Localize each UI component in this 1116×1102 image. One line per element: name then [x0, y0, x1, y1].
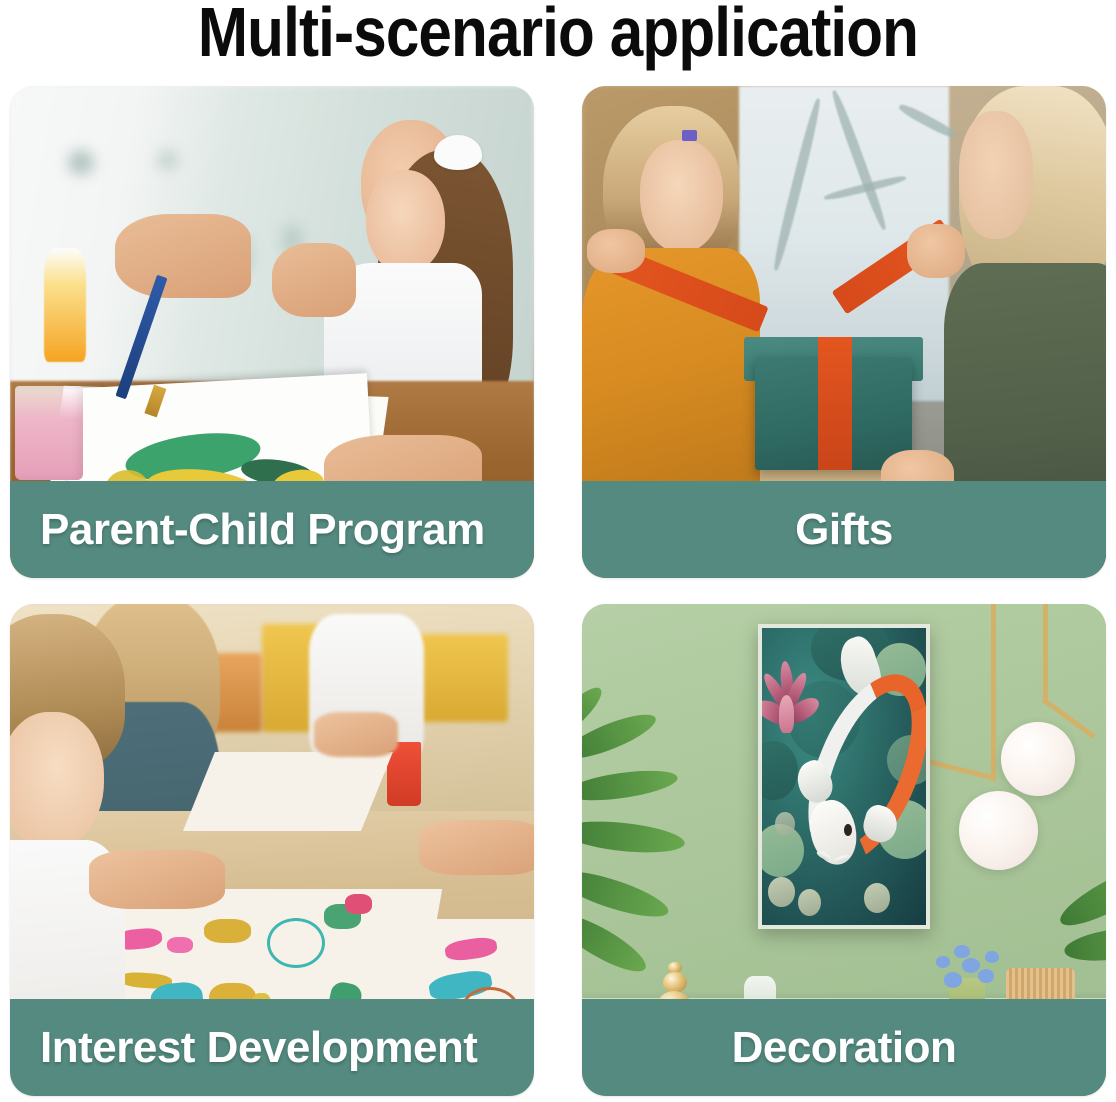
paint-stroke: [345, 894, 371, 914]
card-caption-bar: Parent-Child Program: [10, 481, 534, 578]
blue-flower: [978, 969, 995, 983]
girl-face: [640, 140, 724, 253]
child-arm-right: [419, 820, 534, 874]
palm-frond: [582, 816, 687, 857]
ribbon-vertical: [818, 337, 852, 470]
paint-stroke: [267, 918, 325, 968]
mother-arm: [115, 214, 251, 298]
blue-flower: [944, 972, 963, 988]
palm-frond: [582, 706, 660, 766]
card-caption-text: Interest Development: [40, 1023, 477, 1073]
lotus-flower: [765, 666, 818, 749]
koi-eye: [844, 824, 852, 836]
child-arm: [89, 850, 225, 909]
blue-flower: [962, 958, 980, 973]
palm-frond: [582, 862, 672, 925]
globe-light: [959, 791, 1038, 870]
lotus-petal: [779, 695, 795, 733]
poster: Multi-scenario application: [0, 0, 1116, 1102]
paper-sheet: [183, 752, 393, 831]
woman-hand-upper: [907, 224, 965, 278]
girl-face: [366, 170, 445, 273]
scenario-card-gifts[interactable]: Gifts: [582, 86, 1106, 578]
card-caption-bar: Decoration: [582, 999, 1106, 1096]
woman-face: [959, 111, 1032, 239]
blue-flower: [954, 945, 970, 958]
pendant-rod: [991, 604, 996, 781]
card-caption-bar: Gifts: [582, 481, 1106, 578]
paint-stroke: [204, 919, 251, 944]
rattan-basket-top: [1006, 968, 1074, 1002]
scenario-card-parent-child-program[interactable]: Parent-Child Program: [10, 86, 534, 578]
pendant-rod: [1043, 604, 1048, 702]
koi-artwork: [758, 624, 931, 929]
hair-bow: [434, 135, 481, 169]
child-arm-back: [314, 712, 398, 756]
scenario-card-interest-development[interactable]: Interest Development: [10, 604, 534, 1096]
globe-light: [1001, 722, 1074, 796]
girl-hand: [587, 229, 645, 273]
card-caption-bar: Interest Development: [10, 999, 534, 1096]
scenario-card-decoration[interactable]: Decoration: [582, 604, 1106, 1096]
card-caption-text: Decoration: [732, 1023, 957, 1073]
cabinet: [413, 634, 507, 723]
scenario-grid: Parent-Child Program: [10, 86, 1106, 1096]
child-hand: [272, 243, 356, 317]
palm-frond: [582, 765, 679, 805]
hair-clip: [682, 130, 698, 141]
stone: [775, 812, 795, 836]
wall-spot: [157, 150, 178, 170]
palm-frond: [582, 906, 652, 981]
stone: [798, 889, 821, 916]
water-cup: [15, 386, 83, 479]
orange-bottle: [44, 248, 86, 361]
stone: [864, 883, 890, 913]
stone: [768, 877, 794, 907]
wall-spot: [68, 150, 94, 175]
page-title: Multi-scenario application: [78, 0, 1038, 68]
card-caption-text: Gifts: [795, 505, 893, 555]
card-caption-text: Parent-Child Program: [40, 505, 485, 555]
paint-stroke: [167, 937, 193, 954]
